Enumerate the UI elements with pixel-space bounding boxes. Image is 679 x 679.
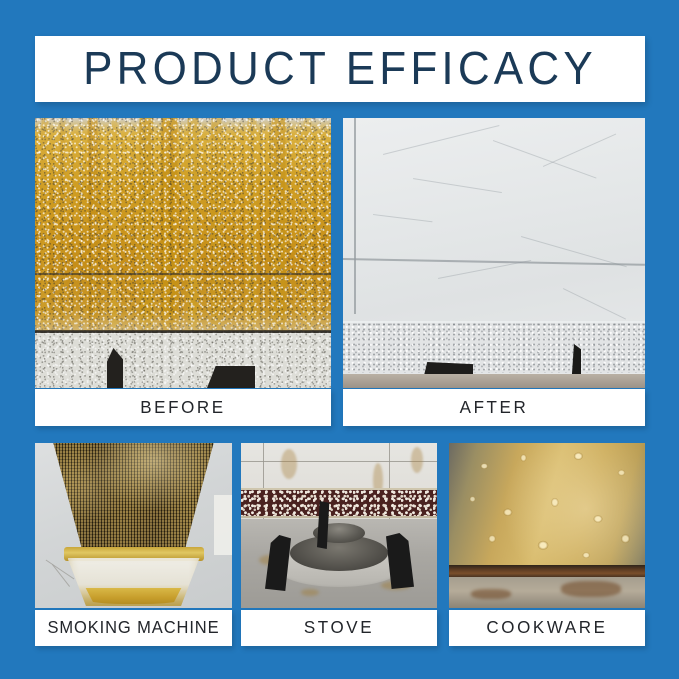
- photo-greasy-cookware: [449, 443, 645, 608]
- wall-grease-stain: [281, 449, 297, 479]
- page-title: PRODUCT EFFICACY: [83, 46, 597, 93]
- photo-panel-after: [343, 118, 645, 388]
- marble-vein: [413, 178, 502, 193]
- cookware-surface: [449, 443, 645, 608]
- background-panel: [214, 495, 232, 555]
- lower-grease-stain: [561, 581, 621, 597]
- hood-background: [35, 443, 232, 608]
- mesh-filter-cone: [50, 443, 218, 553]
- photo-after-clean-tile: [343, 118, 645, 388]
- caption-bar-before: BEFORE: [35, 389, 331, 426]
- wall-grout-horizontal: [241, 461, 437, 462]
- photo-panel-cookware: [449, 443, 645, 608]
- title-banner: PRODUCT EFFICACY: [35, 36, 645, 102]
- floor-strip: [343, 374, 645, 388]
- caption-label-stove: STOVE: [304, 618, 374, 639]
- photo-panel-smoking-machine: [35, 443, 232, 608]
- grout-line-vertical: [354, 118, 356, 314]
- marble-vein: [563, 288, 626, 320]
- stove-scene: [241, 443, 437, 608]
- oil-collection-cup: [68, 558, 200, 606]
- lower-grease-stain: [471, 589, 511, 599]
- marble-vein: [373, 214, 433, 222]
- cooktop-stain: [301, 589, 319, 596]
- photo-panel-before: [35, 118, 331, 388]
- clean-tile-surface: [343, 118, 645, 388]
- marble-vein: [543, 134, 616, 167]
- caption-bar-after: AFTER: [343, 389, 645, 426]
- dirty-tile-surface: [35, 118, 331, 388]
- grout-line-horizontal: [35, 273, 331, 275]
- product-efficacy-poster: PRODUCT EFFICACY BEFORE: [0, 0, 679, 679]
- base-ledge-texture: [343, 323, 645, 373]
- collected-oil: [82, 588, 186, 604]
- marble-vein: [493, 140, 597, 179]
- marble-vein: [383, 125, 500, 155]
- caption-label-before: BEFORE: [140, 397, 226, 418]
- cookware-lower-edge: [449, 577, 645, 608]
- caption-label-cookware: COOKWARE: [486, 618, 607, 639]
- caption-bar-stove: STOVE: [241, 610, 437, 646]
- ledge-highlight-line: [343, 321, 645, 323]
- photo-panel-stove: [241, 443, 437, 608]
- caption-label-smoking-machine: SMOKING MACHINE: [47, 618, 219, 638]
- photo-range-hood-filter: [35, 443, 232, 608]
- grease-dark-band: [449, 565, 645, 577]
- granite-bottom-edge: [241, 516, 437, 518]
- ledge-speckle-texture: [35, 331, 331, 388]
- caption-bar-cookware: COOKWARE: [449, 610, 645, 646]
- caption-label-after: AFTER: [460, 397, 529, 418]
- photo-before-dirty-tile: [35, 118, 331, 388]
- caption-bar-smoking-machine: SMOKING MACHINE: [35, 610, 232, 646]
- ledge-shadow-line: [35, 330, 331, 333]
- mesh-highlight: [50, 443, 218, 553]
- photo-gas-stove: [241, 443, 437, 608]
- granite-backsplash: [241, 490, 437, 516]
- wall-grease-stain: [411, 447, 423, 473]
